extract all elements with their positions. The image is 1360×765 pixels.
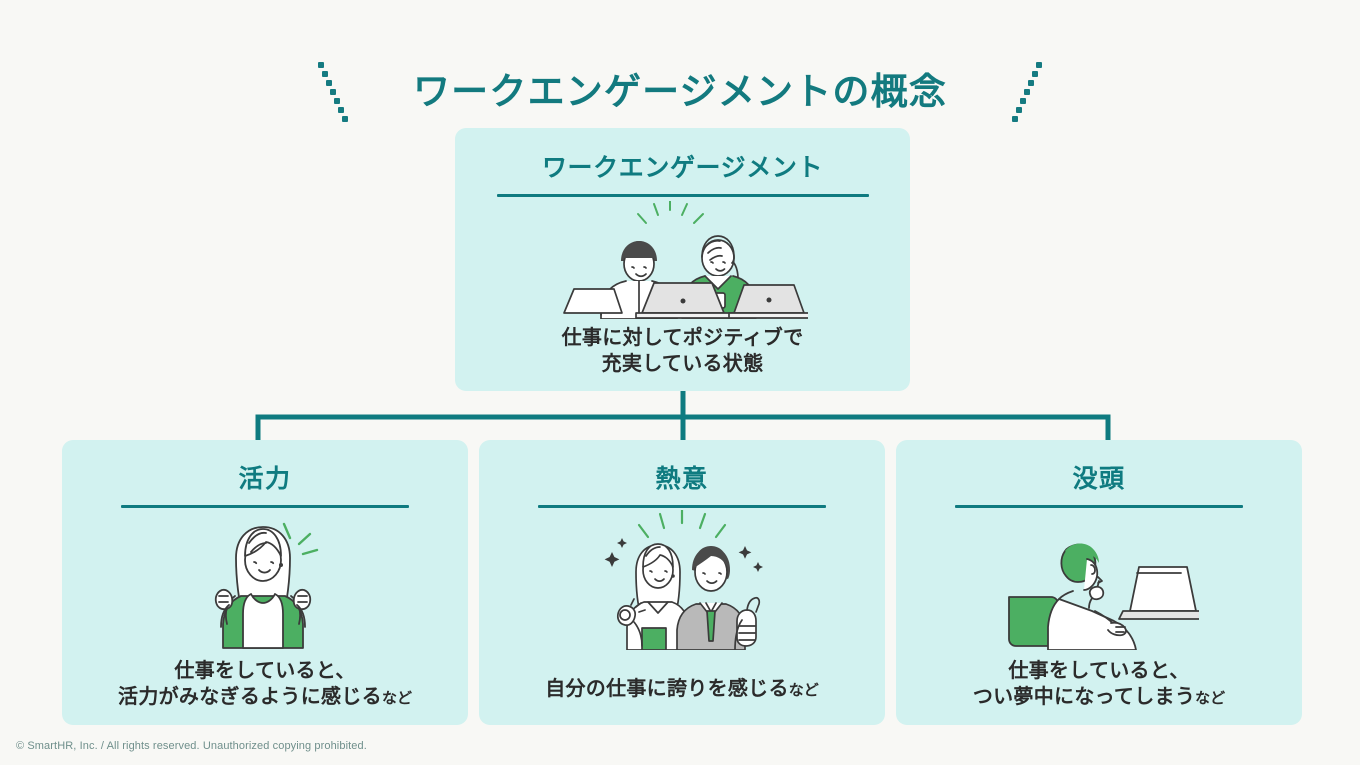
slide-canvas: ワークエンゲージメントの概念 ワークエンゲージメント	[0, 0, 1360, 765]
heading-underline	[121, 505, 409, 508]
illustration-two-people-ok-thumbs-up	[479, 510, 885, 650]
card-vigor: 活力	[62, 440, 468, 725]
caption-line-2: 充実している状態	[455, 351, 910, 377]
two-people-at-laptops-icon	[558, 201, 808, 319]
woman-fists-raised-icon	[189, 510, 341, 650]
footer-copyright: © SmartHR, Inc. / All rights reserved. U…	[16, 740, 367, 752]
illustration-person-focused-at-laptop	[896, 510, 1302, 650]
card-dedication: 熱意	[479, 440, 885, 725]
caption-line-1: 仕事をしていると、	[896, 658, 1302, 684]
card-caption: 仕事に対してポジティブで 充実している状態	[455, 325, 910, 378]
caption-line-2: つい夢中になってしまう	[973, 686, 1195, 708]
card-heading: 熱意	[479, 440, 885, 494]
dotted-tick-left-icon	[317, 61, 351, 123]
card-heading: 没頭	[896, 440, 1302, 494]
caption-line-2-row: 自分の仕事に誇りを感じるなど	[479, 676, 885, 702]
heading-underline	[497, 194, 869, 197]
caption-suffix: など	[382, 690, 412, 707]
illustration-two-people-at-laptops	[455, 201, 910, 319]
connector-bracket	[255, 391, 1111, 443]
card-absorption: 没頭	[896, 440, 1302, 725]
two-people-ok-and-thumbs-up-icon	[582, 510, 782, 650]
caption-line-2: 自分の仕事に誇りを感じる	[545, 678, 789, 700]
caption-line-2-row: 活力がみなぎるように感じるなど	[62, 684, 468, 710]
caption-suffix: など	[1195, 690, 1225, 707]
card-caption: 自分の仕事に誇りを感じるなど	[479, 676, 885, 702]
heading-underline	[955, 505, 1243, 508]
dotted-tick-right-icon	[1009, 61, 1043, 123]
card-heading: ワークエンゲージメント	[455, 128, 910, 183]
illustration-woman-fists-raised	[62, 510, 468, 650]
card-caption: 仕事をしていると、 活力がみなぎるように感じるなど	[62, 658, 468, 711]
page-title: ワークエンゲージメントの概念	[413, 72, 947, 113]
card-work-engagement: ワークエンゲージメント	[455, 128, 910, 391]
card-caption: 仕事をしていると、 つい夢中になってしまうなど	[896, 658, 1302, 711]
caption-line-2-row: つい夢中になってしまうなど	[896, 684, 1302, 710]
caption-line-1: 仕事をしていると、	[62, 658, 468, 684]
caption-line-2: 活力がみなぎるように感じる	[118, 686, 382, 708]
person-focused-at-laptop-icon	[999, 515, 1199, 650]
title-row: ワークエンゲージメントの概念	[0, 56, 1360, 128]
card-heading: 活力	[62, 440, 468, 494]
caption-line-1: 仕事に対してポジティブで	[455, 325, 910, 351]
caption-suffix: など	[789, 682, 819, 699]
heading-underline	[538, 505, 826, 508]
